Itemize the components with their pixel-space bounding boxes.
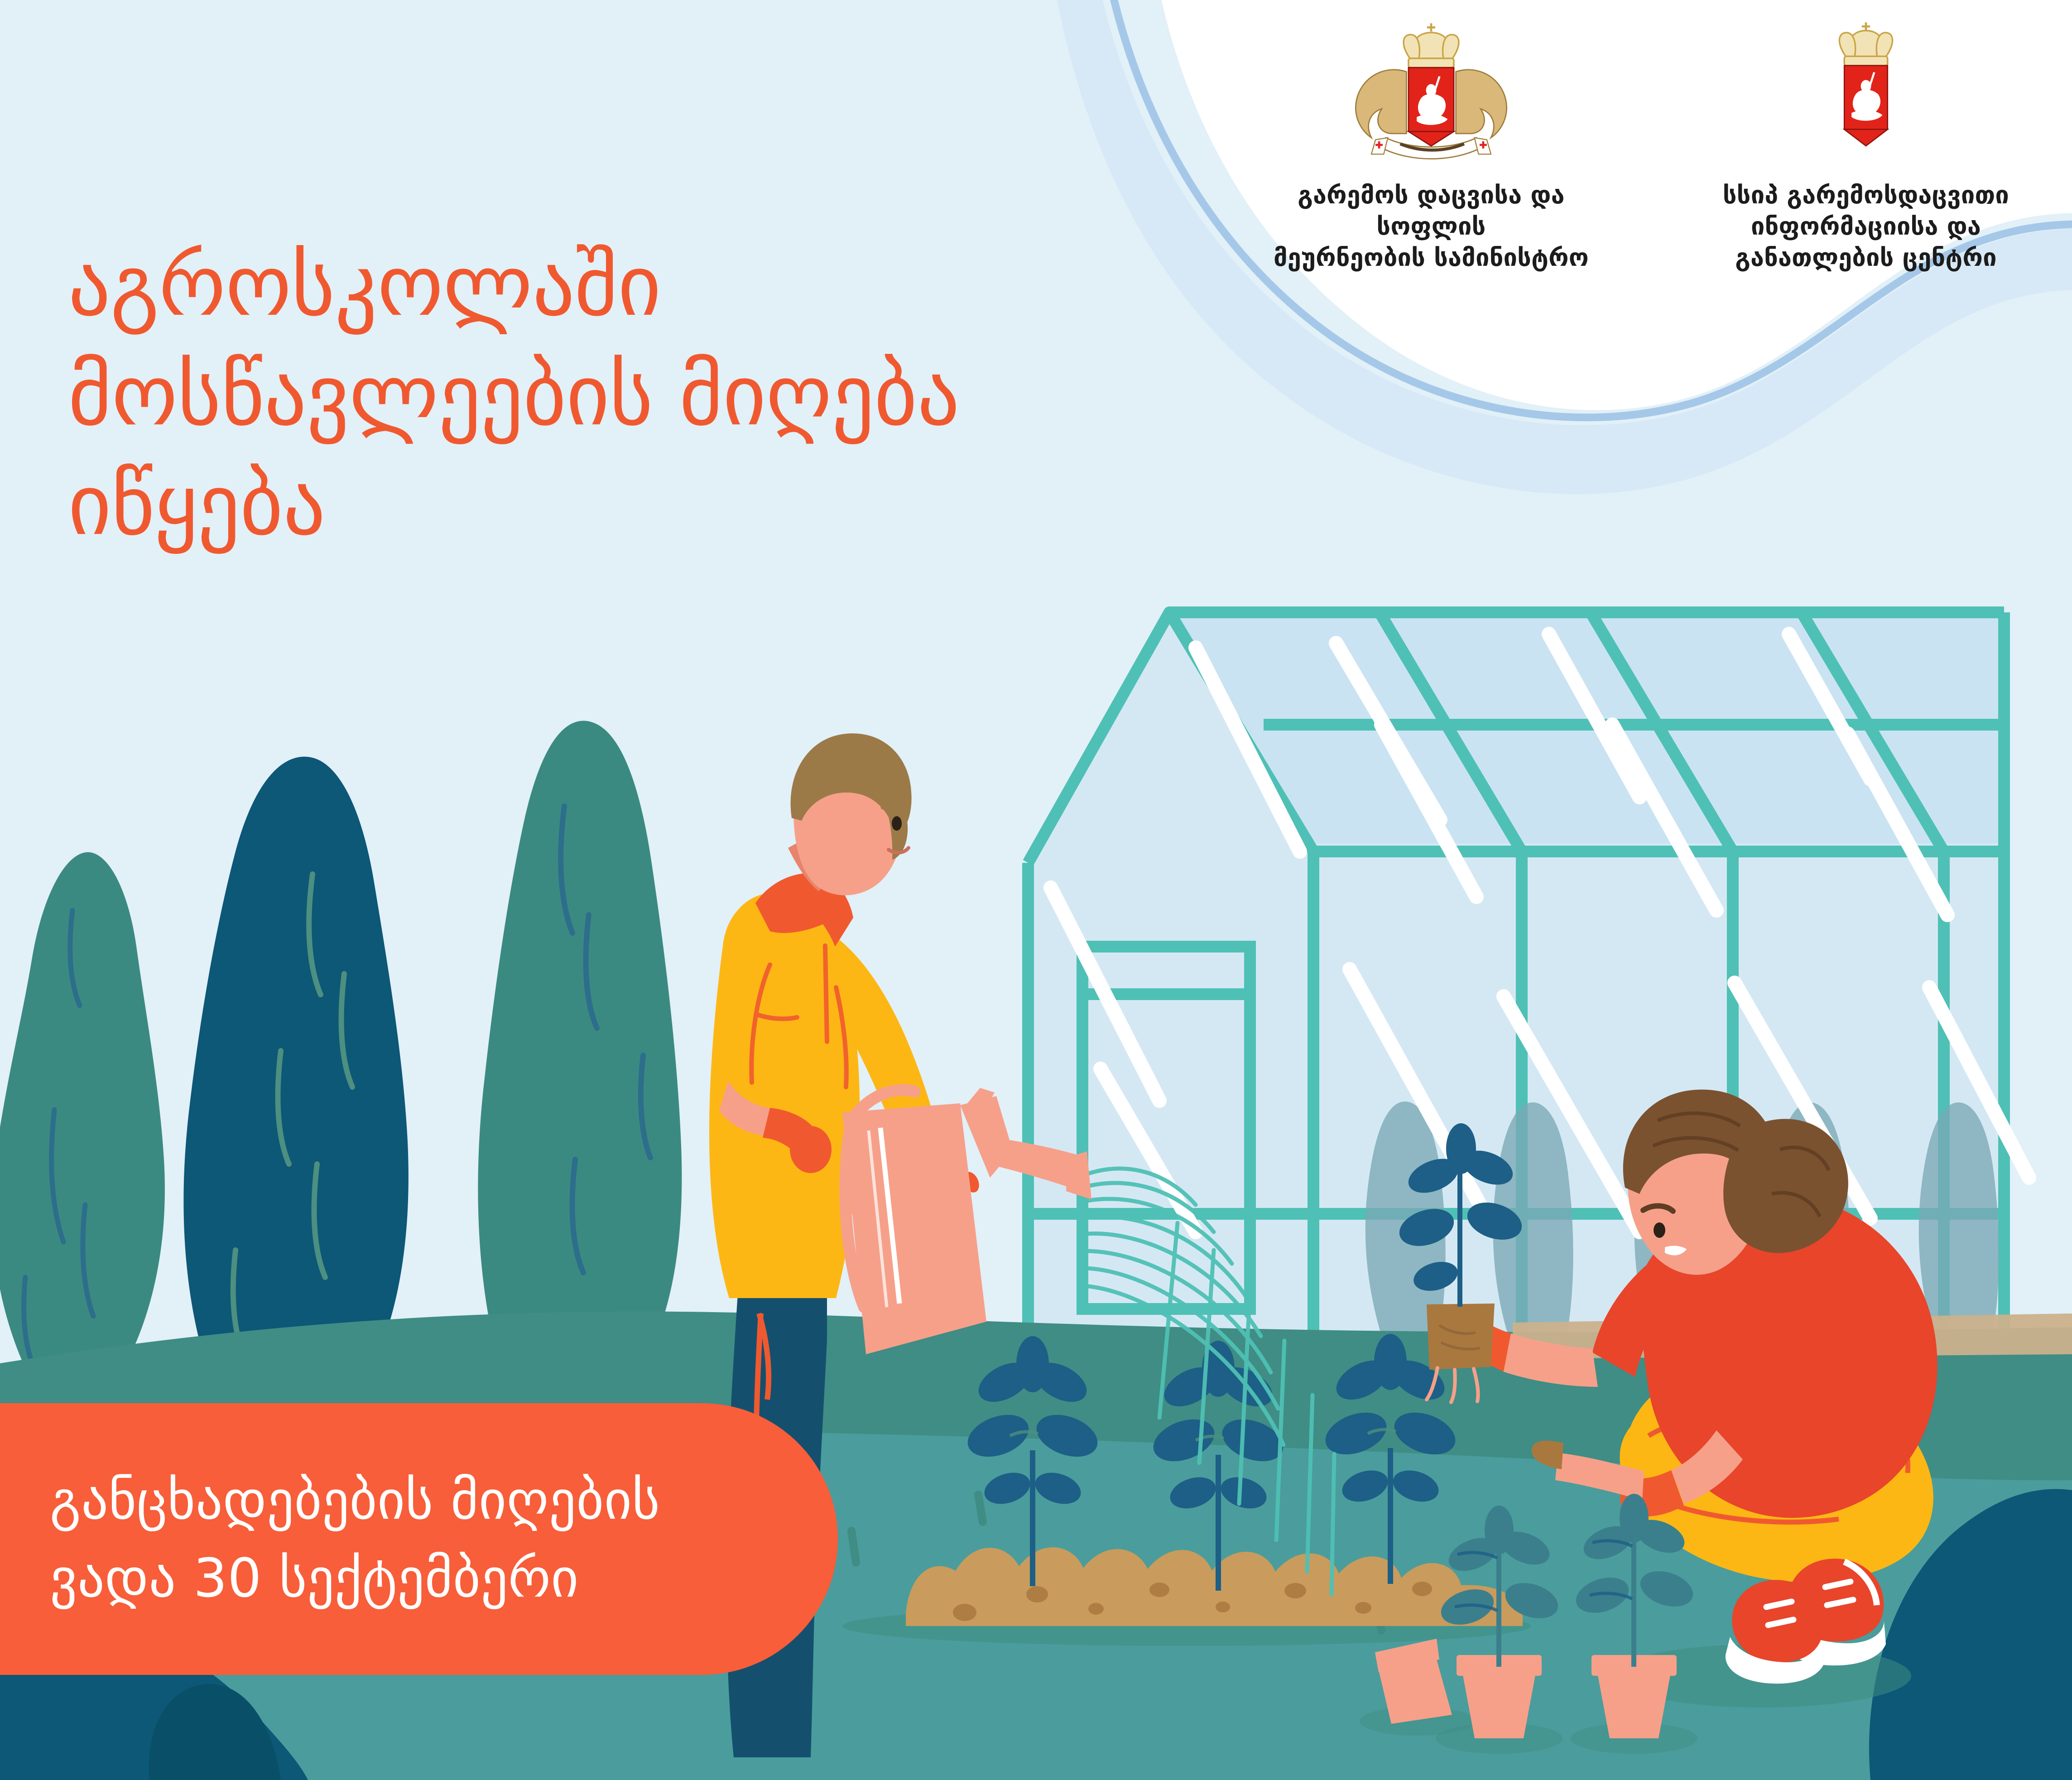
page-title-line1: აგროსკოლაში [68, 231, 959, 341]
logo-center-caption-line2: ინფორმაციისა და [1723, 211, 2009, 242]
deadline-banner-line2: ვადა 30 სექტემბერი [50, 1539, 838, 1617]
poster-root: გარემოს დაცვისა და სოფლის მეურნეობის სამ… [0, 0, 2072, 1780]
page-title-line2: მოსწავლეების მიღება [68, 341, 959, 450]
georgia-coat-of-arms-icon [1327, 18, 1535, 168]
logo-center-caption-line1: სსიპ გარემოსდაცვითი [1723, 179, 2009, 211]
logo-center: სსიპ გარემოსდაცვითი ინფორმაციისა და განა… [1694, 18, 2038, 273]
page-title-line3: იწყება [68, 450, 959, 560]
logo-center-caption-line3: განათლების ცენტრი [1723, 242, 2009, 273]
page-title: აგროსკოლაში მოსწავლეების მიღება იწყება [68, 231, 959, 559]
logo-center-caption: სსიპ გარემოსდაცვითი ინფორმაციისა და განა… [1723, 179, 2009, 273]
logo-ministry-caption-line2: მეურნეობის სამინისტრო [1250, 242, 1612, 273]
header-logos: გარემოს დაცვისა და სოფლის მეურნეობის სამ… [1250, 18, 2038, 273]
logo-ministry-caption: გარემოს დაცვისა და სოფლის მეურნეობის სამ… [1250, 179, 1612, 273]
georgia-shield-crown-icon [1809, 18, 1923, 168]
logo-ministry-caption-line1: გარემოს დაცვისა და სოფლის [1250, 179, 1612, 242]
logo-ministry: გარემოს დაცვისა და სოფლის მეურნეობის სამ… [1250, 18, 1612, 273]
deadline-banner-line1: განცხადებების მიღების [50, 1461, 838, 1539]
deadline-banner: განცხადებების მიღების ვადა 30 სექტემბერი [0, 1403, 838, 1675]
